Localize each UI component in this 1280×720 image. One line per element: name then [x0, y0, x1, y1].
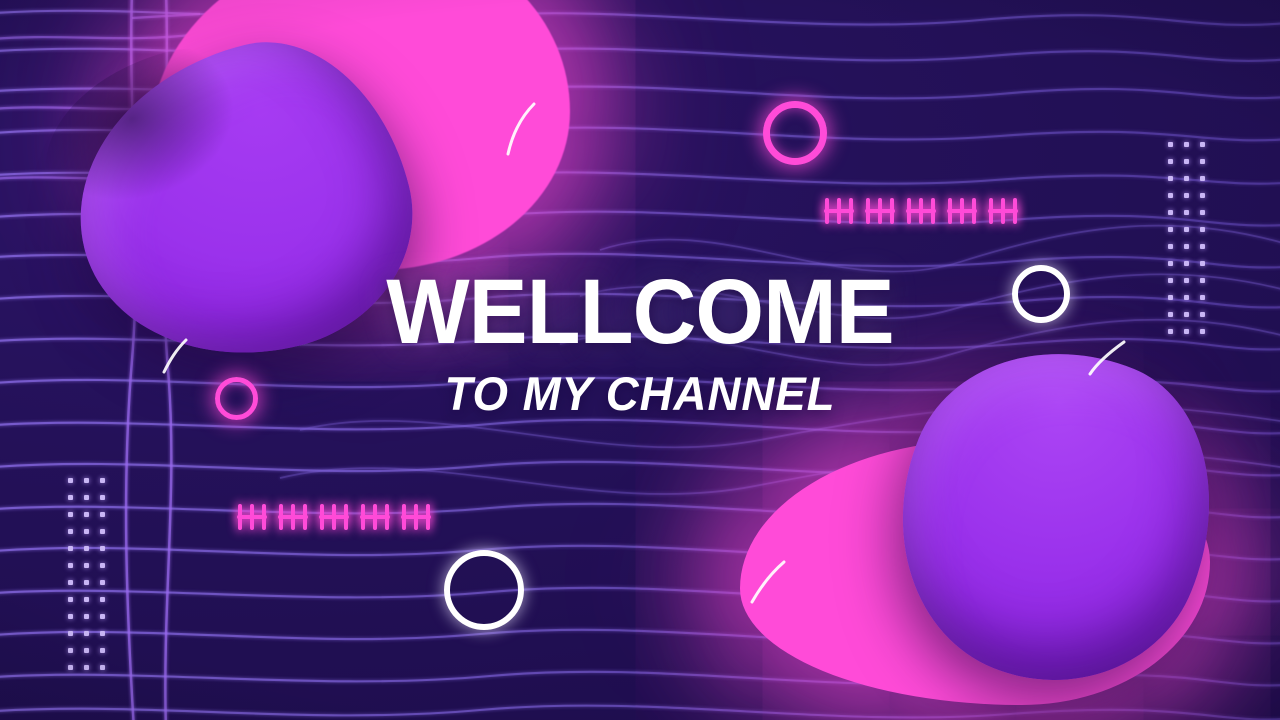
grid-dot: [1200, 210, 1205, 215]
tally-tick: [361, 504, 365, 530]
tally-group: [988, 198, 1018, 224]
grid-dot: [68, 614, 73, 619]
grid-dot: [84, 495, 89, 500]
grid-dot: [84, 614, 89, 619]
grid-dot: [1168, 227, 1173, 232]
tally-tick: [291, 504, 295, 530]
grid-dot: [100, 546, 105, 551]
tally-group: [865, 198, 895, 224]
grid-dot: [68, 563, 73, 568]
banner-canvas: WELLCOME TO MY CHANNEL: [0, 0, 1280, 720]
grid-dot: [1184, 210, 1189, 215]
grid-dot: [84, 529, 89, 534]
grid-dot: [1184, 227, 1189, 232]
ring-pink-top-icon: [763, 101, 827, 165]
grid-dot: [1168, 142, 1173, 147]
grid-dot: [1168, 210, 1173, 215]
grid-dot: [1168, 159, 1173, 164]
tally-tick: [948, 198, 952, 224]
tally-tick: [972, 198, 976, 224]
grid-dot: [68, 665, 73, 670]
tally-tick: [931, 198, 935, 224]
tally-tick: [919, 198, 923, 224]
tally-tick: [1013, 198, 1017, 224]
banner-title: WELLCOME: [26, 268, 1255, 356]
tally-tick: [385, 504, 389, 530]
tally-tick: [414, 504, 418, 530]
grid-dot: [1184, 193, 1189, 198]
grid-dot: [68, 512, 73, 517]
tally-group: [401, 504, 431, 530]
tally-marks-right: [824, 198, 1018, 224]
tally-tick: [1001, 198, 1005, 224]
grid-dot: [1184, 261, 1189, 266]
grid-dot: [100, 580, 105, 585]
grid-dot: [84, 597, 89, 602]
tally-tick: [878, 198, 882, 224]
grid-dot: [1168, 261, 1173, 266]
grid-dot: [1200, 261, 1205, 266]
grid-dot: [1184, 176, 1189, 181]
grid-dot: [84, 648, 89, 653]
tally-marks-left: [237, 504, 431, 530]
grid-dot: [68, 546, 73, 551]
tally-group: [278, 504, 308, 530]
tally-tick: [402, 504, 406, 530]
tally-tick: [849, 198, 853, 224]
tally-tick: [279, 504, 283, 530]
tally-tick: [262, 504, 266, 530]
tally-tick: [320, 504, 324, 530]
grid-dot: [68, 495, 73, 500]
tally-group: [824, 198, 854, 224]
tally-tick: [373, 504, 377, 530]
grid-dot: [84, 665, 89, 670]
grid-dot: [100, 665, 105, 670]
tally-tick: [250, 504, 254, 530]
tally-tick: [426, 504, 430, 530]
tally-tick: [344, 504, 348, 530]
tally-tick: [332, 504, 336, 530]
grid-dot: [1168, 244, 1173, 249]
grid-dot: [100, 648, 105, 653]
grid-dot: [1200, 244, 1205, 249]
banner-subtitle: TO MY CHANNEL: [19, 370, 1261, 417]
grid-dot: [68, 597, 73, 602]
ring-white-bottom-icon: [444, 550, 524, 630]
grid-dot: [100, 597, 105, 602]
tally-tick: [907, 198, 911, 224]
tally-group: [319, 504, 349, 530]
tally-group: [906, 198, 936, 224]
grid-dot: [100, 529, 105, 534]
grid-dot: [84, 563, 89, 568]
tally-tick: [960, 198, 964, 224]
grid-dot: [68, 648, 73, 653]
grid-dot: [68, 478, 73, 483]
grid-dot: [1200, 142, 1205, 147]
tally-tick: [303, 504, 307, 530]
tally-tick: [866, 198, 870, 224]
grid-dot: [1184, 159, 1189, 164]
grid-dot: [1200, 159, 1205, 164]
grid-dot: [100, 631, 105, 636]
grid-dot: [1200, 193, 1205, 198]
grid-dot: [100, 614, 105, 619]
grid-dot: [1184, 244, 1189, 249]
grid-dot: [84, 512, 89, 517]
grid-dot: [1200, 176, 1205, 181]
grid-dot: [100, 495, 105, 500]
grid-dot: [68, 529, 73, 534]
grid-dot: [1184, 142, 1189, 147]
grid-dot: [100, 512, 105, 517]
grid-dot: [84, 478, 89, 483]
grid-dot: [68, 631, 73, 636]
grid-dot: [1168, 193, 1173, 198]
tally-tick: [890, 198, 894, 224]
tally-tick: [825, 198, 829, 224]
grid-dot: [68, 580, 73, 585]
tally-tick: [238, 504, 242, 530]
grid-dot: [1200, 227, 1205, 232]
grid-dot: [100, 478, 105, 483]
dot-grid-left: [62, 478, 110, 682]
headline-block: WELLCOME TO MY CHANNEL: [0, 268, 1280, 417]
tally-group: [360, 504, 390, 530]
grid-dot: [84, 631, 89, 636]
grid-dot: [84, 546, 89, 551]
tally-tick: [989, 198, 993, 224]
tally-tick: [837, 198, 841, 224]
tally-group: [947, 198, 977, 224]
grid-dot: [84, 580, 89, 585]
grid-dot: [100, 563, 105, 568]
grid-dot: [1168, 176, 1173, 181]
tally-group: [237, 504, 267, 530]
